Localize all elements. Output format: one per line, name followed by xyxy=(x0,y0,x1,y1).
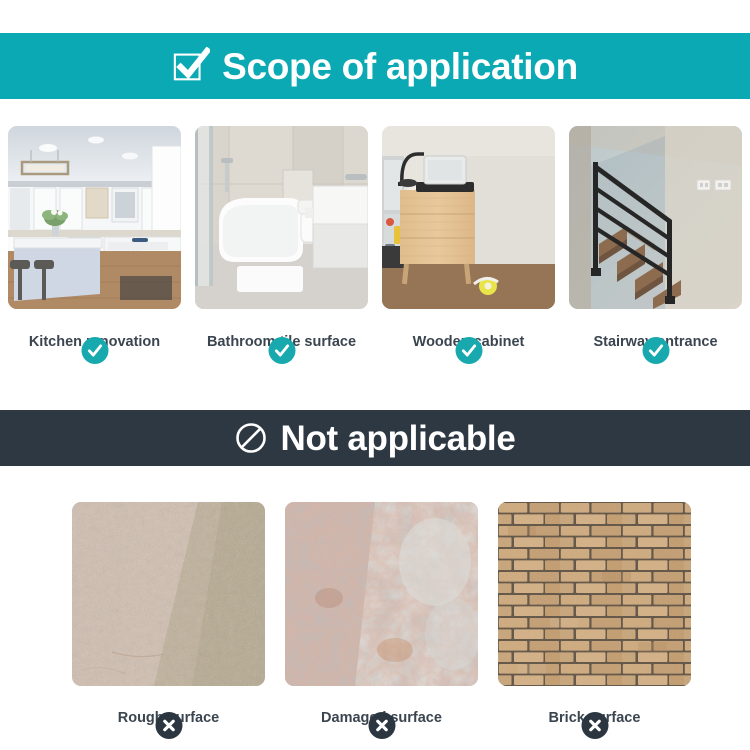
wooden-cabinet-photo xyxy=(382,126,555,309)
rough-stucco-surface-photo xyxy=(72,502,265,686)
applicable-items-grid: Kitchen renovation xyxy=(8,126,743,351)
x-icon xyxy=(581,712,608,739)
applicable-card-bathroom-tile-surface[interactable]: Bathroom tile surface xyxy=(195,126,368,351)
not-applicable-title: Not applicable xyxy=(280,421,515,456)
not-applicable-card-rough-surface[interactable]: Rough surface xyxy=(72,502,265,726)
not-applicable-card-brick-surface[interactable]: Brick surface xyxy=(498,502,691,726)
not-applicable-card-damaged-surface[interactable]: Damaged surface xyxy=(285,502,478,726)
prohibition-icon xyxy=(234,421,268,455)
applicable-card-stairway-entrance[interactable]: Stairway entrance xyxy=(569,126,742,351)
not-applicable-items-grid: Rough surface xyxy=(72,502,690,726)
scope-of-application-title: Scope of application xyxy=(222,48,578,85)
scope-of-application-banner: Scope of application xyxy=(0,33,750,99)
check-icon xyxy=(642,337,669,364)
damaged-peeling-paint-surface-photo xyxy=(285,502,478,686)
bathroom-tile-surface-photo xyxy=(195,126,368,309)
applicable-card-kitchen-renovation[interactable]: Kitchen renovation xyxy=(8,126,181,351)
x-icon xyxy=(155,712,182,739)
infographic-page: Scope of application xyxy=(0,0,750,750)
check-icon xyxy=(455,337,482,364)
check-icon xyxy=(268,337,295,364)
x-icon xyxy=(368,712,395,739)
check-icon xyxy=(81,337,108,364)
applicable-card-wooden-cabinet[interactable]: Wooden cabinet xyxy=(382,126,555,351)
checkbox-check-icon xyxy=(172,47,210,85)
brick-wall-surface-photo xyxy=(498,502,691,686)
not-applicable-banner: Not applicable xyxy=(0,410,750,466)
kitchen-renovation-photo xyxy=(8,126,181,309)
stairway-entrance-photo xyxy=(569,126,742,309)
